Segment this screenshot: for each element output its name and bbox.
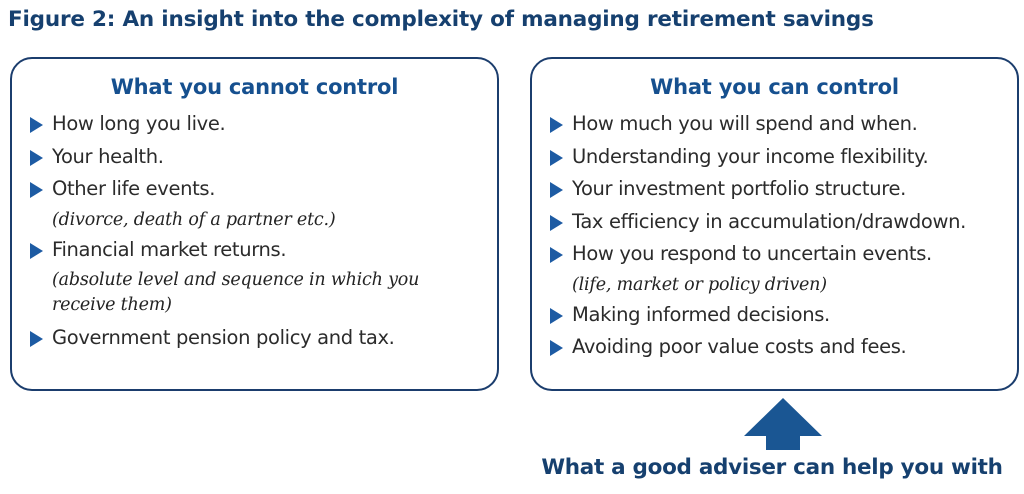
list-item-label: Your health. — [52, 144, 164, 170]
list-item: How much you will spend and when. — [550, 111, 1007, 137]
list-item-label: Making informed decisions. — [572, 302, 830, 328]
advisor-caption: What a good adviser can help you with — [524, 455, 1020, 480]
list-item-note: (life, market or policy driven) — [572, 273, 1007, 298]
list-item: Making informed decisions. — [550, 302, 1007, 328]
list-item: Other life events. — [30, 176, 487, 202]
list-item-label: Tax efficiency in accumulation/drawdown. — [572, 209, 966, 235]
list-item: Tax efficiency in accumulation/drawdown. — [550, 209, 1007, 235]
triangle-bullet-icon — [550, 308, 563, 324]
triangle-bullet-icon — [550, 182, 563, 198]
triangle-bullet-icon — [30, 182, 43, 198]
arrow-up-icon — [744, 398, 822, 450]
list-item: Government pension policy and tax. — [30, 325, 487, 351]
triangle-bullet-icon — [550, 340, 563, 356]
bullet-list-can-control: How much you will spend and when. Unders… — [550, 111, 1007, 367]
list-item-label: Government pension policy and tax. — [52, 325, 395, 351]
list-item-label: Understanding your income flexibility. — [572, 144, 928, 170]
triangle-bullet-icon — [30, 150, 43, 166]
list-item: Your investment portfolio structure. — [550, 176, 1007, 202]
list-item-label: Avoiding poor value costs and fees. — [572, 334, 906, 360]
triangle-bullet-icon — [550, 117, 563, 133]
panel-heading-can-control: What you can control — [532, 75, 1017, 99]
list-item-label: How long you live. — [52, 111, 225, 137]
list-item-note: (divorce, death of a partner etc.) — [52, 208, 487, 233]
list-item: Financial market returns. — [30, 237, 487, 263]
panel-can-control: What you can control How much you will s… — [530, 57, 1019, 391]
list-item-label: How much you will spend and when. — [572, 111, 917, 137]
bullet-list-cannot-control: How long you live. Your health. Other li… — [30, 111, 487, 358]
list-item-label: How you respond to uncertain events. — [572, 241, 932, 267]
list-item-note: (absolute level and sequence in which yo… — [52, 268, 487, 318]
list-item-label: Your investment portfolio structure. — [572, 176, 906, 202]
triangle-bullet-icon — [550, 247, 563, 263]
list-item: How you respond to uncertain events. — [550, 241, 1007, 267]
panel-cannot-control: What you cannot control How long you liv… — [10, 57, 499, 391]
page-title: Figure 2: An insight into the complexity… — [8, 7, 1008, 32]
list-item-label: Other life events. — [52, 176, 215, 202]
list-item: Avoiding poor value costs and fees. — [550, 334, 1007, 360]
panel-heading-cannot-control: What you cannot control — [12, 75, 497, 99]
list-item: Your health. — [30, 144, 487, 170]
triangle-bullet-icon — [30, 243, 43, 259]
triangle-bullet-icon — [30, 117, 43, 133]
list-item-label: Financial market returns. — [52, 237, 286, 263]
triangle-bullet-icon — [550, 215, 563, 231]
triangle-bullet-icon — [30, 331, 43, 347]
list-item: How long you live. — [30, 111, 487, 137]
list-item: Understanding your income flexibility. — [550, 144, 1007, 170]
triangle-bullet-icon — [550, 150, 563, 166]
